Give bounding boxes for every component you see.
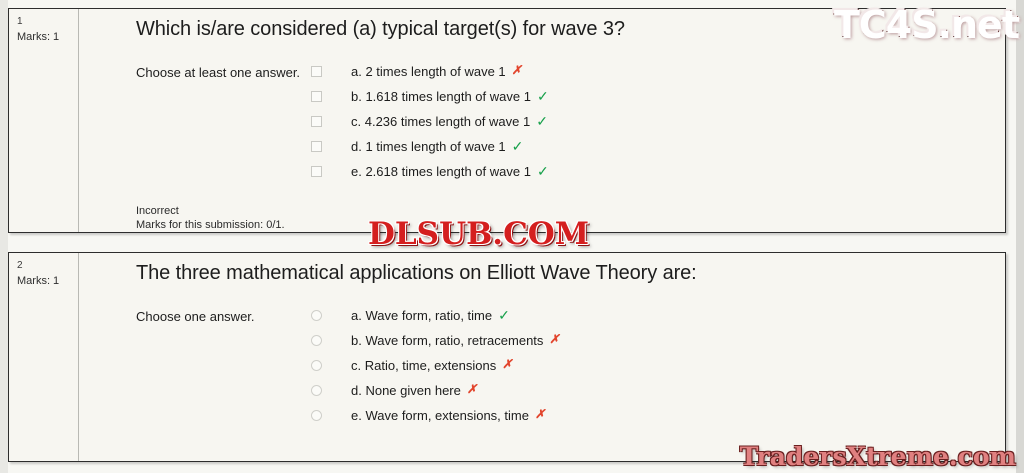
radio-button-icon[interactable]	[311, 310, 322, 321]
answer-options-list-1: a. 2 times length of wave 1 ✗ b. 1.618 t…	[311, 63, 1005, 188]
checkbox-icon[interactable]	[311, 116, 322, 127]
answer-option[interactable]: a. 2 times length of wave 1 ✗	[311, 63, 1005, 88]
quiz-page: 1 Marks: 1 Which is/are considered (a) t…	[0, 0, 1024, 473]
answer-radio-cell[interactable]	[311, 307, 351, 321]
answer-option-label: b. 1.618 times length of wave 1	[351, 88, 531, 105]
feedback-marks: Marks for this submission: 0/1.	[136, 218, 1005, 232]
question-title: Which is/are considered (a) typical targ…	[79, 9, 1005, 41]
incorrect-mark-icon: ✗	[502, 357, 512, 371]
answer-checkbox-cell[interactable]	[311, 63, 351, 77]
answer-option[interactable]: b. Wave form, ratio, retracements ✗	[311, 332, 1005, 357]
answer-option[interactable]: a. Wave form, ratio, time ✓	[311, 307, 1005, 332]
answer-option-label: c. Ratio, time, extensions	[351, 357, 496, 374]
checkbox-icon[interactable]	[311, 66, 322, 77]
correct-mark-icon: ✓	[536, 113, 548, 130]
incorrect-mark-icon: ✗	[512, 63, 522, 77]
correct-mark-icon: ✓	[537, 163, 549, 180]
answer-checkbox-cell[interactable]	[311, 113, 351, 127]
radio-button-icon[interactable]	[311, 410, 322, 421]
checkbox-icon[interactable]	[311, 91, 322, 102]
question-body-1: Which is/are considered (a) typical targ…	[79, 9, 1005, 232]
answer-instruction: Choose at least one answer.	[136, 63, 311, 188]
question-title: The three mathematical applications on E…	[79, 253, 1005, 285]
question-feedback-1: Incorrect Marks for this submission: 0/1…	[79, 188, 1005, 232]
incorrect-mark-icon: ✗	[549, 332, 559, 346]
incorrect-mark-icon: ✗	[535, 407, 545, 421]
answer-option-label: a. 2 times length of wave 1	[351, 63, 506, 80]
answer-checkbox-cell[interactable]	[311, 88, 351, 102]
radio-button-icon[interactable]	[311, 335, 322, 346]
answer-checkbox-cell[interactable]	[311, 163, 351, 177]
radio-button-icon[interactable]	[311, 360, 322, 371]
incorrect-mark-icon: ✗	[467, 382, 477, 396]
radio-button-icon[interactable]	[311, 385, 322, 396]
checkbox-icon[interactable]	[311, 166, 322, 177]
answer-option-label: d. 1 times length of wave 1	[351, 138, 506, 155]
answer-option[interactable]: e. Wave form, extensions, time ✗	[311, 407, 1005, 432]
answer-option[interactable]: e. 2.618 times length of wave 1 ✓	[311, 163, 1005, 188]
feedback-status: Incorrect	[136, 204, 1005, 218]
answer-radio-cell[interactable]	[311, 332, 351, 346]
question-card-1: 1 Marks: 1 Which is/are considered (a) t…	[8, 8, 1006, 233]
question-card-2: 2 Marks: 1 The three mathematical applic…	[8, 252, 1006, 462]
correct-mark-icon: ✓	[537, 88, 549, 105]
correct-mark-icon: ✓	[512, 138, 524, 155]
question-number: 1	[17, 15, 78, 28]
answer-radio-cell[interactable]	[311, 357, 351, 371]
answer-radio-cell[interactable]	[311, 407, 351, 421]
answer-option-label: e. Wave form, extensions, time	[351, 407, 529, 424]
question-number: 2	[17, 259, 78, 272]
question-marks: Marks: 1	[17, 30, 78, 45]
question-gutter-1: 1 Marks: 1	[9, 9, 79, 232]
answer-instruction: Choose one answer.	[136, 307, 311, 432]
answer-option[interactable]: b. 1.618 times length of wave 1 ✓	[311, 88, 1005, 113]
answer-option[interactable]: c. Ratio, time, extensions ✗	[311, 357, 1005, 382]
answer-option-label: a. Wave form, ratio, time	[351, 307, 492, 324]
question-marks: Marks: 1	[17, 274, 78, 289]
question-gutter-2: 2 Marks: 1	[9, 253, 79, 461]
answer-option-label: d. None given here	[351, 382, 461, 399]
correct-mark-icon: ✓	[498, 307, 510, 324]
answer-option[interactable]: d. 1 times length of wave 1 ✓	[311, 138, 1005, 163]
answer-option[interactable]: c. 4.236 times length of wave 1 ✓	[311, 113, 1005, 138]
question-body-2: The three mathematical applications on E…	[79, 253, 1005, 461]
answer-options-list-2: a. Wave form, ratio, time ✓ b. Wave form…	[311, 307, 1005, 432]
answer-option[interactable]: d. None given here ✗	[311, 382, 1005, 407]
answer-option-label: c. 4.236 times length of wave 1	[351, 113, 530, 130]
answer-checkbox-cell[interactable]	[311, 138, 351, 152]
answer-radio-cell[interactable]	[311, 382, 351, 396]
answer-option-label: e. 2.618 times length of wave 1	[351, 163, 531, 180]
checkbox-icon[interactable]	[311, 141, 322, 152]
answer-option-label: b. Wave form, ratio, retracements	[351, 332, 543, 349]
